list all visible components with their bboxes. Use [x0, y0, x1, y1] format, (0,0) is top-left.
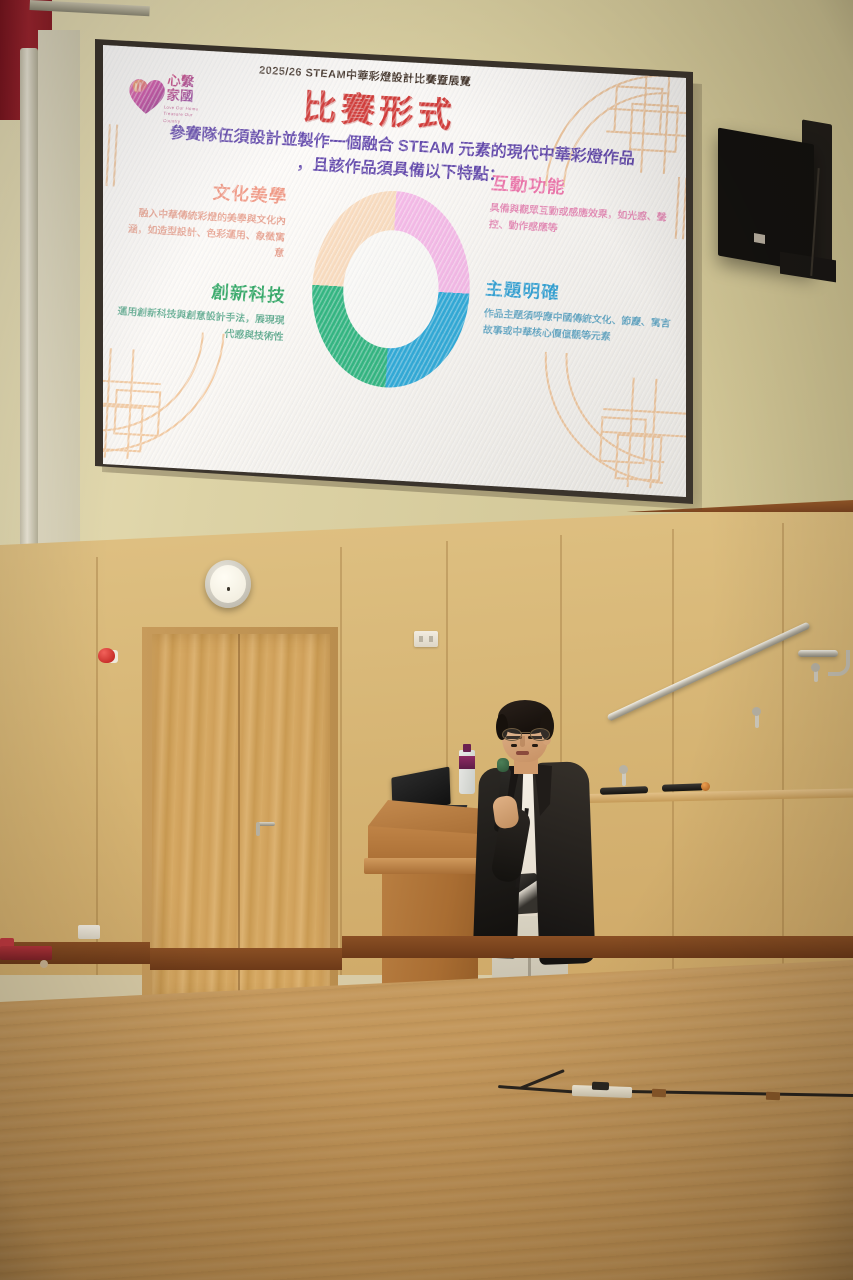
power-strip-switch[interactable]: [592, 1082, 609, 1091]
wall-socket-plate[interactable]: [414, 631, 438, 647]
floor-grain: [0, 960, 853, 1280]
wall-pillar: [20, 48, 38, 568]
handrail-bracket-3: [814, 668, 818, 682]
presenter-mouth: [516, 751, 529, 755]
trolley-deck: [0, 946, 52, 960]
feature-body-theme: 作品主題須呼應中國傳統文化、節慶、寓言故事或中華核心價值觀等元素: [482, 306, 675, 349]
cable-tape-2: [766, 1092, 780, 1100]
slide-title: 比賽形式: [301, 79, 457, 137]
red-trolley: [0, 938, 52, 966]
feature-block-culture: 文化美學 融入中華傳統彩燈的美學與文化內涵，如造型設計、色彩運用、象徵寓意: [118, 173, 288, 263]
baseboard-right: [342, 936, 853, 958]
presenter-nose: [520, 736, 525, 747]
bottle-label: [459, 756, 475, 769]
door-handle[interactable]: [258, 822, 275, 826]
baseboard-door: [150, 948, 342, 970]
feature-heading-culture: 文化美學: [121, 173, 288, 208]
trolley-wheel: [40, 960, 48, 968]
pa-speaker: [718, 128, 836, 268]
handrail-bracket-1: [622, 770, 626, 786]
feature-heading-technology: 創新科技: [110, 271, 287, 307]
clock-centre-pin: [227, 587, 231, 591]
handrail-end-curl: [828, 650, 850, 676]
feature-body-culture: 融入中華傳統彩燈的美學與文化內涵，如造型設計、色彩運用、象徵寓意: [118, 205, 286, 263]
handrail-bracket-2: [755, 712, 759, 728]
slide-content: 心繫 家國 Love Our Home Treasure Our Country: [103, 45, 686, 497]
wooden-door[interactable]: [152, 634, 330, 1002]
spare-microphone-2[interactable]: [662, 783, 704, 791]
door-handle-base: [256, 822, 260, 836]
hall-floor: [0, 960, 853, 1280]
wall-pillar-face: [38, 30, 80, 575]
cable-tape-1: [652, 1089, 666, 1097]
wall-socket-plate-left[interactable]: [78, 925, 100, 939]
presentation-photo: 心繫 家國 Love Our Home Treasure Our Country: [0, 0, 853, 1280]
fire-alarm-bell: [98, 648, 118, 664]
alarm-bell-dome: [98, 648, 115, 663]
wall-clock: [205, 560, 251, 608]
donut-chart: [307, 187, 475, 392]
feature-body-interaction: 具備與觀眾互動或感應效果，如光感、聲控、動作感應等: [488, 201, 676, 244]
feature-block-theme: 主題明確 作品主題須呼應中國傳統文化、節慶、寓言故事或中華核心價值觀等元素: [482, 274, 677, 349]
water-bottle[interactable]: [459, 738, 475, 794]
projection-screen[interactable]: 心繫 家國 Love Our Home Treasure Our Country: [103, 45, 686, 497]
lattice-decoration-bottom-right: [535, 348, 686, 491]
spare-microphone-head: [701, 782, 710, 791]
feature-block-technology: 創新科技 運用創新科技與創意設計手法，展現現代感與技術性: [107, 271, 286, 345]
logo-name-cn: 心繫 家國: [166, 74, 194, 104]
feature-body-technology: 運用創新科技與創意設計手法，展現現代感與技術性: [107, 303, 284, 345]
clock-face: [210, 565, 246, 603]
speaker-badge: [754, 233, 765, 244]
feature-block-interaction: 互動功能 具備與觀眾互動或感應效果，如光感、聲控、動作感應等: [488, 168, 678, 243]
speaker-cabinet: [718, 128, 814, 273]
microphone-head-icon: [497, 758, 509, 772]
lattice-decoration-bottom-left: [103, 321, 228, 464]
door-centre-join: [238, 634, 240, 1002]
glasses-icon: [502, 728, 548, 739]
feature-heading-theme: 主題明確: [485, 274, 678, 311]
bottle-cap: [463, 744, 471, 752]
